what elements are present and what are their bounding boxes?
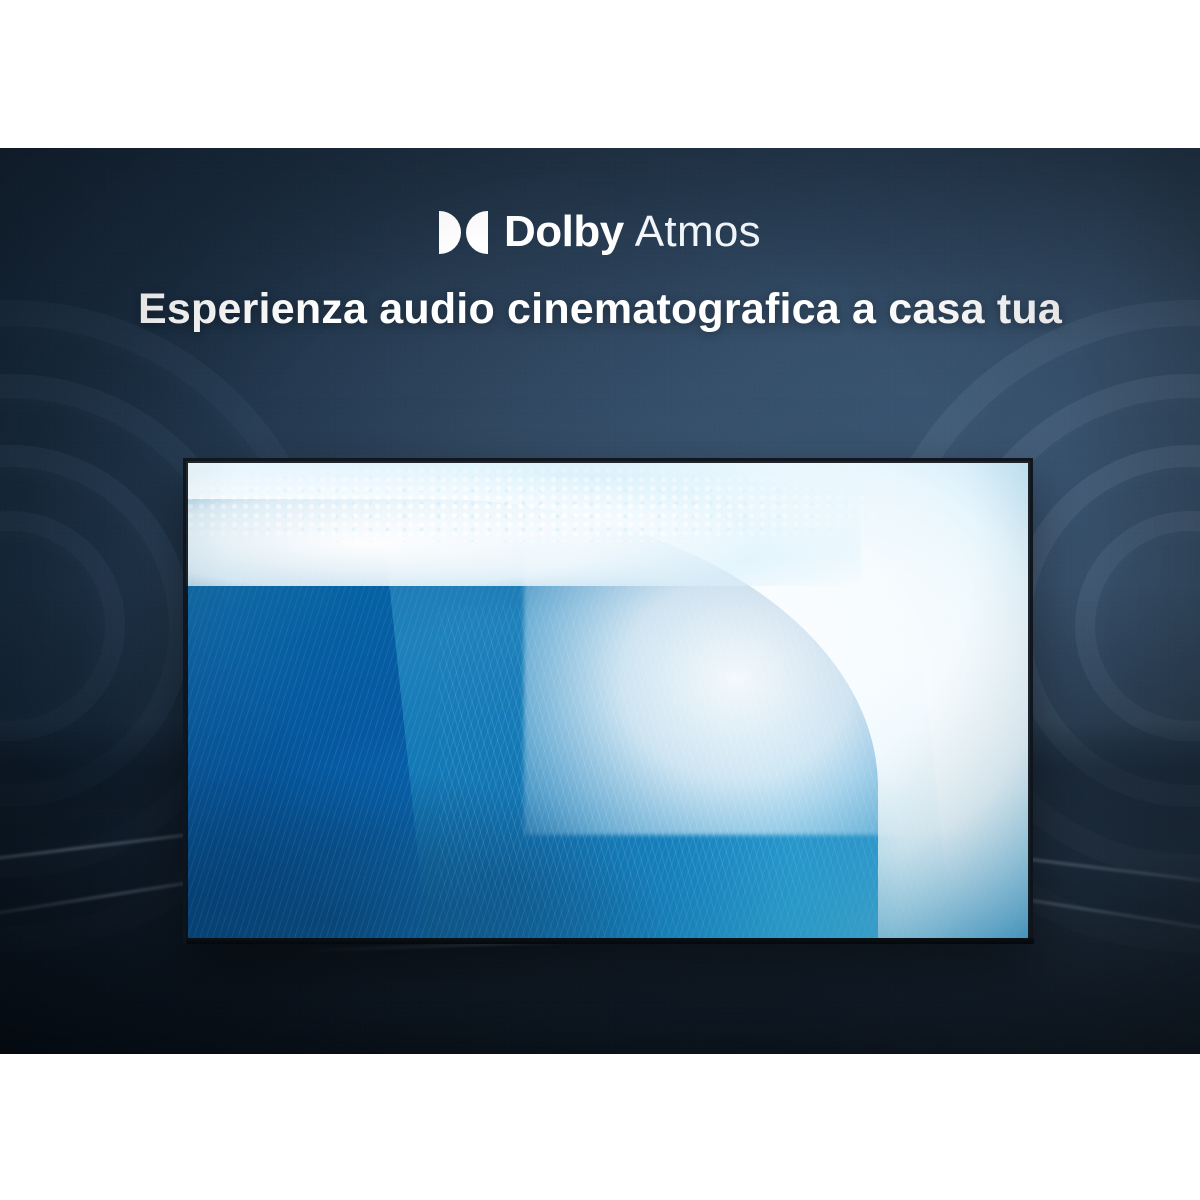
dolby-brand-text: Dolby (504, 210, 624, 254)
banner-headline: Esperienza audio cinematografica a casa … (0, 285, 1200, 334)
dolby-atmos-wordmark: Dolby Atmos (504, 210, 761, 254)
television-base-strip (186, 938, 1034, 944)
dolby-d-right-icon (466, 211, 488, 254)
atmos-product-text: Atmos (635, 210, 761, 254)
television-screen (186, 461, 1030, 940)
wave-foam-speckle (186, 466, 878, 543)
television-panel (186, 461, 1030, 940)
dolby-atmos-hero-banner: Dolby Atmos Esperienza audio cinematogra… (0, 148, 1200, 1054)
dolby-d-left-icon (439, 211, 461, 254)
dolby-double-d-icon (439, 211, 488, 254)
dolby-atmos-logo: Dolby Atmos (0, 210, 1200, 254)
page-canvas: Dolby Atmos Esperienza audio cinematogra… (0, 0, 1200, 1200)
